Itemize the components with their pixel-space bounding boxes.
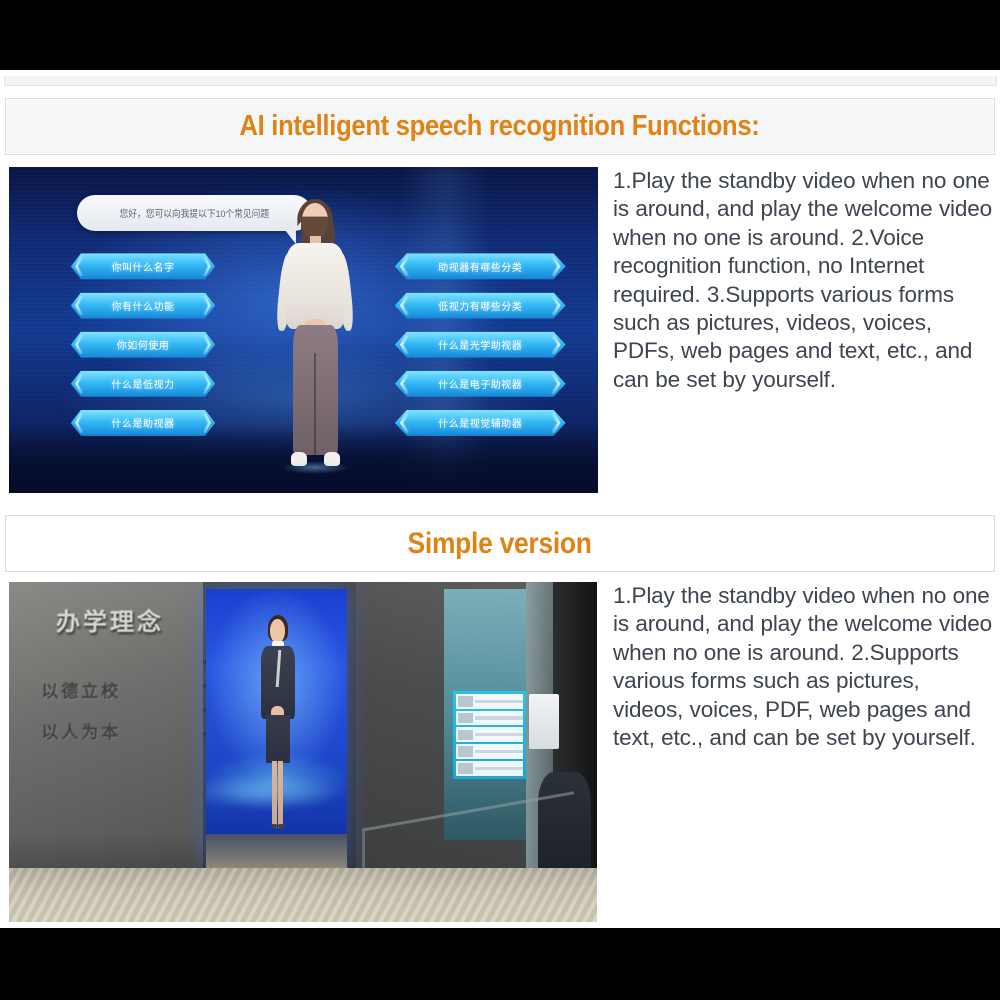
virtual-greeter-avatar-2	[253, 619, 304, 836]
info-bar	[475, 767, 524, 770]
faq-button-right-3[interactable]: 什么是光学助视器	[395, 332, 566, 358]
info-bar	[475, 733, 524, 736]
avatar2-legs	[271, 761, 284, 828]
section-banner-ai-speech: AI intelligent speech recognition Functi…	[5, 98, 995, 155]
faq-button-left-5[interactable]: 什么是助视器	[71, 410, 215, 436]
letterbox-top	[0, 0, 1000, 70]
faq-button-left-4[interactable]: 什么是低视力	[71, 371, 215, 397]
section-banner-simple-version: Simple version	[5, 515, 995, 572]
info-bar	[475, 716, 524, 719]
section-block-ai-speech: 您好，您可以向我提以下10个常见问题 你叫什么名字 你有什么功能 你如何使用 什…	[0, 167, 1000, 497]
info-screen-row	[456, 761, 524, 776]
info-thumb-icon	[458, 730, 473, 741]
product-page: AI intelligent speech recognition Functi…	[0, 0, 1000, 1000]
section-block-simple-version: 办学理念 以德立校 以人为本 办学目标 一流师资 一流管理 一流校园 一流质量	[0, 582, 1000, 924]
info-screen-row	[456, 727, 524, 742]
photo-lobby-led-greeter: 办学理念 以德立校 以人为本 办学目标 一流师资 一流管理 一流校园 一流质量	[9, 582, 597, 922]
faq-button-right-4[interactable]: 什么是电子助视器	[395, 371, 566, 397]
vertical-led-display	[206, 589, 347, 868]
info-bar	[475, 700, 524, 703]
speech-bubble-text: 您好，您可以向我提以下10个常见问题	[120, 206, 270, 220]
avatar2-leg-left	[272, 761, 277, 828]
faq-button-left-1[interactable]: 你叫什么名字	[71, 253, 215, 279]
info-thumb-icon	[458, 713, 473, 724]
virtual-greeter-avatar	[268, 203, 362, 480]
avatar-floor-glow	[281, 461, 349, 475]
avatar2-skirt	[266, 715, 290, 763]
section-title-ai-speech: AI intelligent speech recognition Functi…	[240, 110, 760, 143]
avatar2-leg-right	[278, 761, 283, 828]
faq-button-right-2[interactable]: 低视力有哪些分类	[395, 293, 566, 319]
wall-badge-panel	[529, 694, 558, 748]
photo-ai-kiosk-screen: 您好，您可以向我提以下10个常见问题 你叫什么名字 你有什么功能 你如何使用 什…	[9, 167, 598, 493]
avatar2-head	[270, 619, 285, 643]
wall-text-1: 办学理念	[56, 602, 164, 637]
section-description-ai-speech: 1.Play the standby video when no one is …	[613, 167, 995, 394]
lobby-scene: 办学理念 以德立校 以人为本 办学目标 一流师资 一流管理 一流校园 一流质量	[9, 582, 597, 922]
letterbox-bottom	[0, 928, 1000, 1000]
avatar2-shoe-left	[271, 824, 277, 829]
info-screen-row	[456, 694, 524, 709]
faq-button-right-1[interactable]: 助视器有哪些分类	[395, 253, 566, 279]
section-description-simple-version: 1.Play the standby video when no one is …	[613, 582, 995, 752]
faq-button-left-3[interactable]: 你如何使用	[71, 332, 215, 358]
avatar-trousers	[293, 325, 338, 455]
faq-button-left-2[interactable]: 你有什么功能	[71, 293, 215, 319]
led-panel-base	[206, 834, 347, 867]
lobby-floor	[9, 868, 597, 922]
info-thumb-icon	[458, 696, 473, 707]
info-screen-row	[456, 744, 524, 759]
info-screen-row	[456, 711, 524, 726]
section-title-simple-version: Simple version	[408, 527, 592, 561]
wall-info-screen	[453, 691, 527, 779]
wall-text-2: 以德立校	[41, 677, 121, 702]
wall-text-3: 以人为本	[41, 718, 121, 743]
page-content: AI intelligent speech recognition Functi…	[0, 70, 1000, 928]
faq-button-right-5[interactable]: 什么是视觉辅助器	[395, 410, 566, 436]
avatar2-shoe-right	[278, 824, 284, 829]
info-thumb-icon	[458, 746, 473, 757]
avatar-blouse	[286, 243, 344, 329]
info-bar	[475, 750, 524, 753]
top-divider-strip	[4, 76, 997, 86]
info-thumb-icon	[458, 763, 473, 774]
